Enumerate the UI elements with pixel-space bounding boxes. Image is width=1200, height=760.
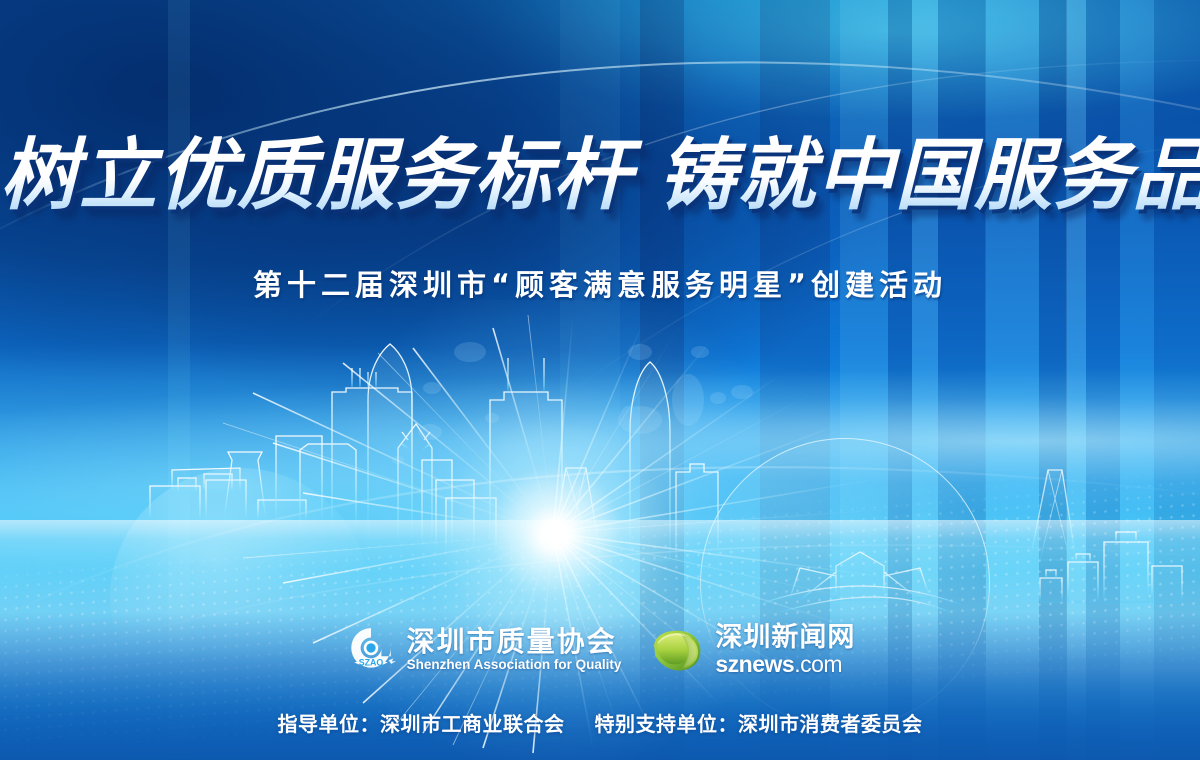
szaq-mark-label: SZAQ (358, 658, 383, 668)
footer-line: 指导单位：深圳市工商业联合会特别支持单位：深圳市消费者委员会 (0, 708, 1200, 737)
footer-block: 指导单位：深圳市工商业联合会特别支持单位：深圳市消费者委员会 (0, 708, 1200, 737)
footer-support: 特别支持单位：深圳市消费者委员会 (595, 712, 923, 736)
page-title: 树立优质服务标杆铸就中国服务品牌 (0, 131, 1200, 221)
title-line-1: 树立优质服务标杆 (0, 131, 632, 221)
sznews-text-block: 深圳新闻网 sznews.com (715, 623, 855, 677)
footer-guidance: 指导单位：深圳市工商业联合会 (278, 712, 565, 736)
logo-sznews: 深圳新闻网 sznews.com (649, 623, 855, 677)
szaq-ring-icon: SZAQ (345, 624, 397, 676)
sznews-name-en: sznews.com (715, 652, 855, 677)
sznews-name-cn: 深圳新闻网 (715, 623, 855, 652)
sznews-domain-main: sznews (715, 651, 794, 677)
banner-poster: 树立优质服务标杆铸就中国服务品牌 第十二届深圳市“顾客满意服务明星”创建活动 S… (0, 0, 1200, 760)
sznews-domain-tld: .com (794, 651, 842, 677)
page-subtitle: 第十二届深圳市“顾客满意服务明星”创建活动 (0, 262, 1200, 304)
subtitle-block: 第十二届深圳市“顾客满意服务明星”创建活动 (0, 262, 1200, 304)
szaq-text-block: 深圳市质量协会 Shenzhen Association for Quality (407, 627, 622, 673)
title-line-2: 铸就中国服务品牌 (658, 131, 1200, 221)
title-block: 树立优质服务标杆铸就中国服务品牌 (0, 131, 1200, 221)
szaq-name-cn: 深圳市质量协会 (407, 627, 622, 657)
szaq-name-en: Shenzhen Association for Quality (407, 657, 622, 673)
logo-row: SZAQ 深圳市质量协会 Shenzhen Association for Qu… (0, 614, 1200, 686)
logo-szaq: SZAQ 深圳市质量协会 Shenzhen Association for Qu… (345, 624, 622, 676)
sznews-leaf-icon (649, 624, 705, 676)
